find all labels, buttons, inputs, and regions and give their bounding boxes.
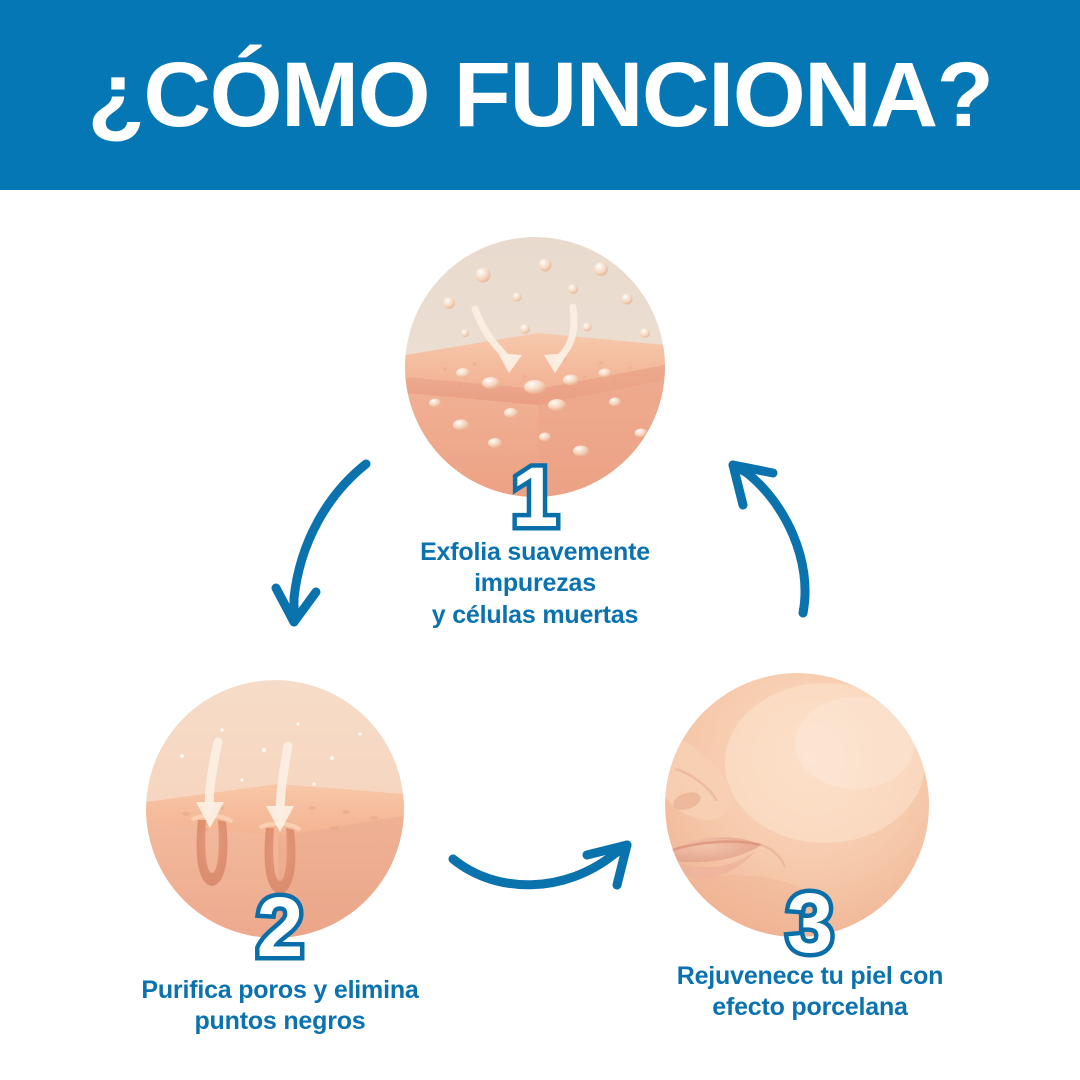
step-1-number: 1 xyxy=(370,455,700,539)
step-3-caption-line-2: efecto porcelana xyxy=(640,992,980,1023)
step-2-number: 2 xyxy=(120,885,440,969)
step-1-caption-line-1: Exfolia suavemente impurezas xyxy=(360,537,710,600)
header-banner: ¿CÓMO FUNCIONA? xyxy=(0,0,1080,190)
page-title: ¿CÓMO FUNCIONA? xyxy=(0,0,1080,190)
step-3-number: 3 xyxy=(640,881,980,965)
arrow-step2-to-step3-icon xyxy=(445,835,640,895)
infographic-page: ¿CÓMO FUNCIONA? xyxy=(0,0,1080,1080)
step-1-caption-line-2: y células muertas xyxy=(360,600,710,631)
step-1-caption: Exfolia suavemente impurezas y células m… xyxy=(360,537,710,631)
step-2-caption-line-2: puntos negros xyxy=(120,1006,440,1037)
step-2-caption-line-1: Purifica poros y elimina xyxy=(120,975,440,1006)
arrow-step3-to-step1-icon xyxy=(725,455,835,620)
step-1-block: 1 Exfolia suavemente impurezas y células… xyxy=(370,237,700,587)
step-3-block: 3 Rejuvenece tu piel con efecto porcelan… xyxy=(640,673,980,1033)
step-2-caption: Purifica poros y elimina puntos negros xyxy=(120,975,440,1038)
step-3-caption: Rejuvenece tu piel con efecto porcelana xyxy=(640,961,980,1024)
step-2-block: 2 Purifica poros y elimina puntos negros xyxy=(120,680,440,1040)
